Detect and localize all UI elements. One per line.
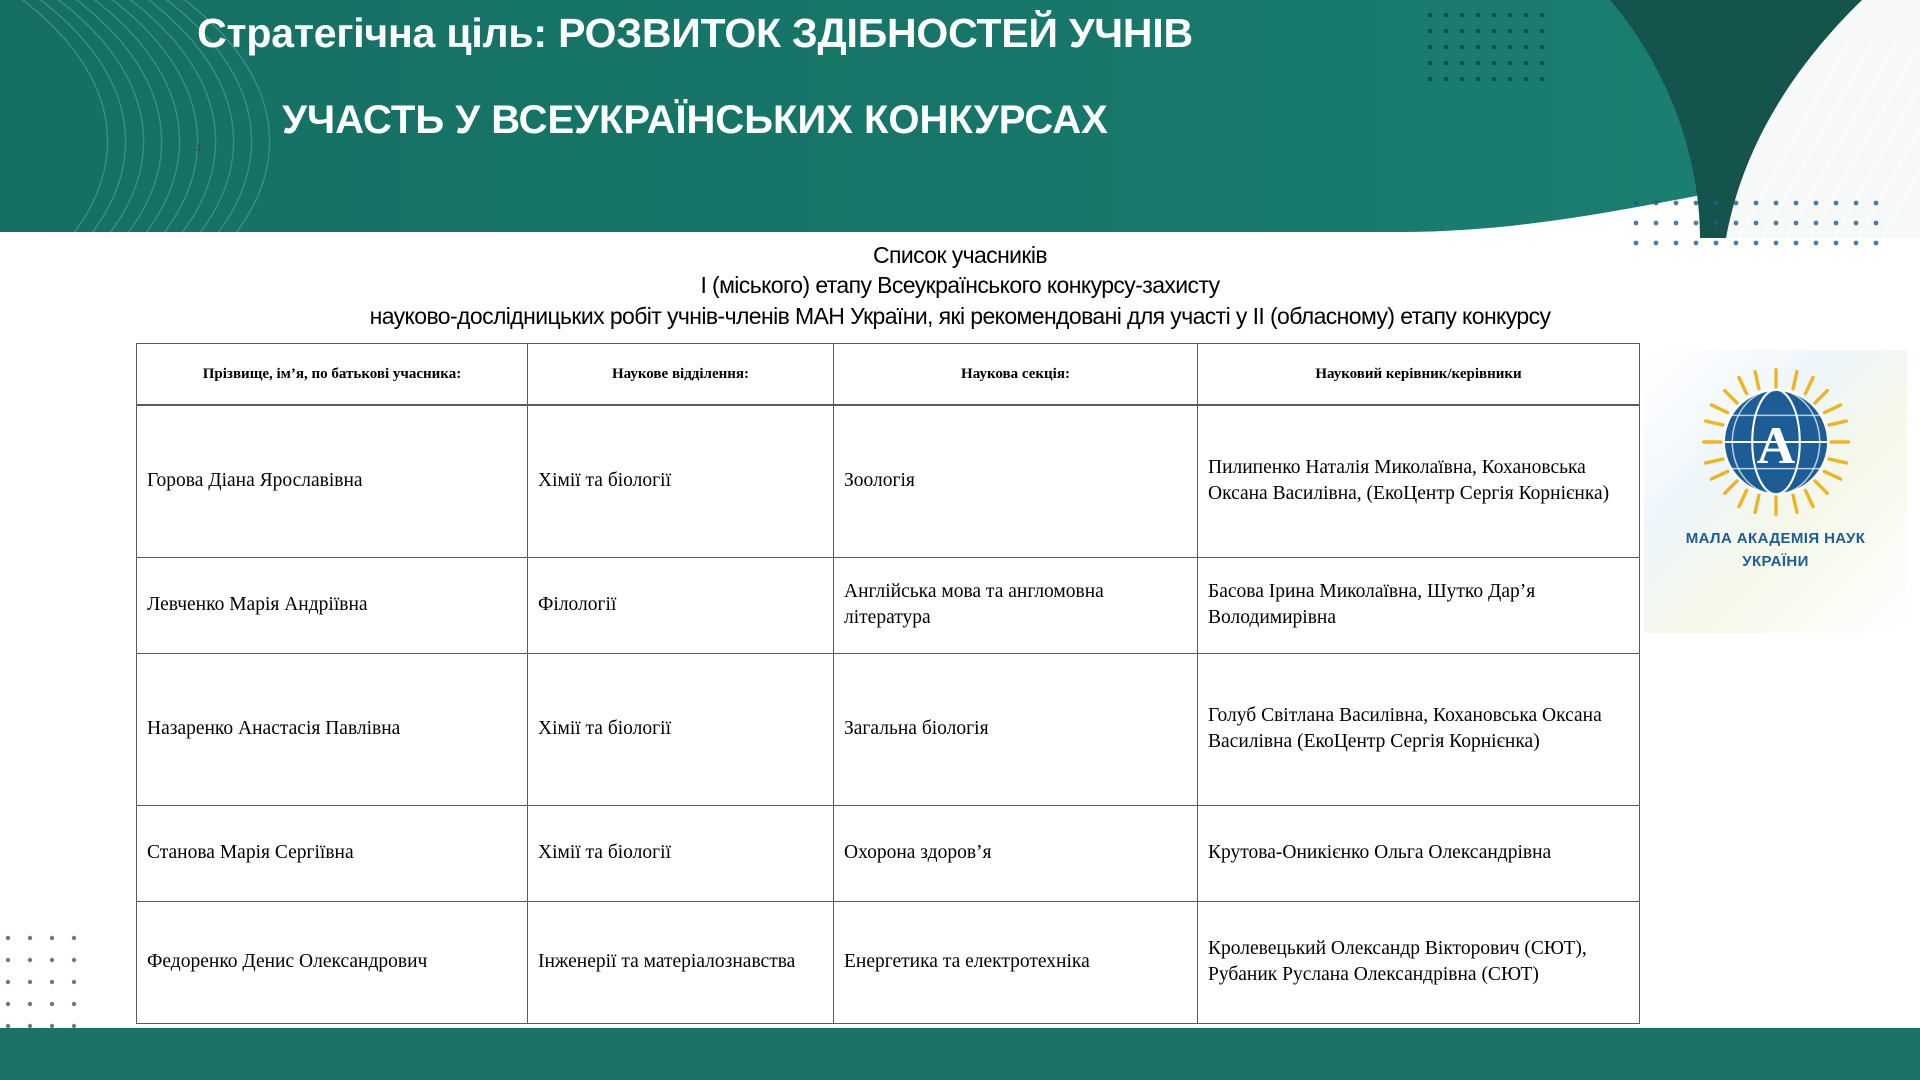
- cell-department: Інженерії та матеріалознавства: [528, 901, 834, 1023]
- cell-name: Назаренко Анастасія Павлівна: [137, 653, 528, 805]
- cell-supervisor: Крутова-Оникієнко Ольга Олександрівна: [1198, 805, 1640, 901]
- page-title: Стратегічна ціль: РОЗВИТОК ЗДІБНОСТЕЙ УЧ…: [0, 8, 1390, 59]
- column-header-section: Наукова секція:: [834, 344, 1198, 406]
- cell-department: Хімії та біології: [528, 405, 834, 557]
- table-header-row: Прізвище, ім’я, по батькові учасника: На…: [137, 344, 1640, 406]
- list-caption-line-1: Список учасників: [0, 240, 1920, 270]
- cell-name: Станова Марія Сергіївна: [137, 805, 528, 901]
- column-header-supervisor: Науковий керівник/керівники: [1198, 344, 1640, 406]
- man-logo-caption-line-2: УКРАЇНИ: [1644, 551, 1907, 574]
- cell-section: Охорона здоров’я: [834, 805, 1198, 901]
- slide-number: 1: [196, 143, 202, 154]
- cell-supervisor: Кролевецький Олександр Вікторович (СЮТ),…: [1198, 901, 1640, 1023]
- cell-name: Горова Діана Ярославівна: [137, 405, 528, 557]
- page-subtitle: УЧАСТЬ У ВСЕУКРАЇНСЬКИХ КОНКУРСАХ: [0, 95, 1390, 145]
- cell-section: Зоологія: [834, 405, 1198, 557]
- man-emblem-letter: А: [1756, 416, 1795, 475]
- table-row: Станова Марія Сергіївна Хімії та біологі…: [137, 805, 1640, 901]
- table-row: Горова Діана Ярославівна Хімії та біолог…: [137, 405, 1640, 557]
- cell-department: Хімії та біології: [528, 805, 834, 901]
- cell-supervisor: Басова Ірина Миколаївна, Шутко Дар’я Вол…: [1198, 557, 1640, 653]
- footer-bar: [0, 1028, 1920, 1080]
- man-logo-caption-line-1: МАЛА АКАДЕМІЯ НАУК: [1644, 528, 1907, 551]
- list-caption-line-2: І (міського) етапу Всеукраїнського конку…: [0, 270, 1920, 300]
- cell-section: Англійська мова та англомовна література: [834, 557, 1198, 653]
- man-logo-caption: МАЛА АКАДЕМІЯ НАУК УКРАЇНИ: [1644, 528, 1907, 573]
- cell-name: Федоренко Денис Олександрович: [137, 901, 528, 1023]
- cell-section: Енергетика та електротехніка: [834, 901, 1198, 1023]
- list-caption: Список учасників І (міського) етапу Всеу…: [0, 240, 1920, 331]
- cell-supervisor: Пилипенко Наталія Миколаївна, Кохановськ…: [1198, 405, 1640, 557]
- man-ukraine-logo: А МАЛА АКАДЕМІЯ НАУК УКРАЇНИ: [1644, 350, 1907, 633]
- cell-supervisor: Голуб Світлана Василівна, Кохановська Ок…: [1198, 653, 1640, 805]
- cell-department: Хімії та біології: [528, 653, 834, 805]
- man-emblem-icon: А: [1700, 366, 1852, 518]
- column-header-name: Прізвище, ім’я, по батькові учасника:: [137, 344, 528, 406]
- list-caption-line-3: науково-дослідницьких робіт учнів-членів…: [0, 301, 1920, 331]
- page-title-lead: Стратегічна ціль:: [197, 10, 547, 56]
- table-row: Федоренко Денис Олександрович Інженерії …: [137, 901, 1640, 1023]
- cell-department: Філології: [528, 557, 834, 653]
- participants-table: Прізвище, ім’я, по батькові учасника: На…: [136, 343, 1640, 1024]
- dot-grid-top-right-icon: [1425, 10, 1545, 90]
- table-row: Назаренко Анастасія Павлівна Хімії та бі…: [137, 653, 1640, 805]
- column-header-department: Наукове відділення:: [528, 344, 834, 406]
- table-row: Левченко Марія Андріївна Філології Англі…: [137, 557, 1640, 653]
- page-title-rest: РОЗВИТОК ЗДІБНОСТЕЙ УЧНІВ: [558, 10, 1193, 56]
- cell-section: Загальна біологія: [834, 653, 1198, 805]
- cell-name: Левченко Марія Андріївна: [137, 557, 528, 653]
